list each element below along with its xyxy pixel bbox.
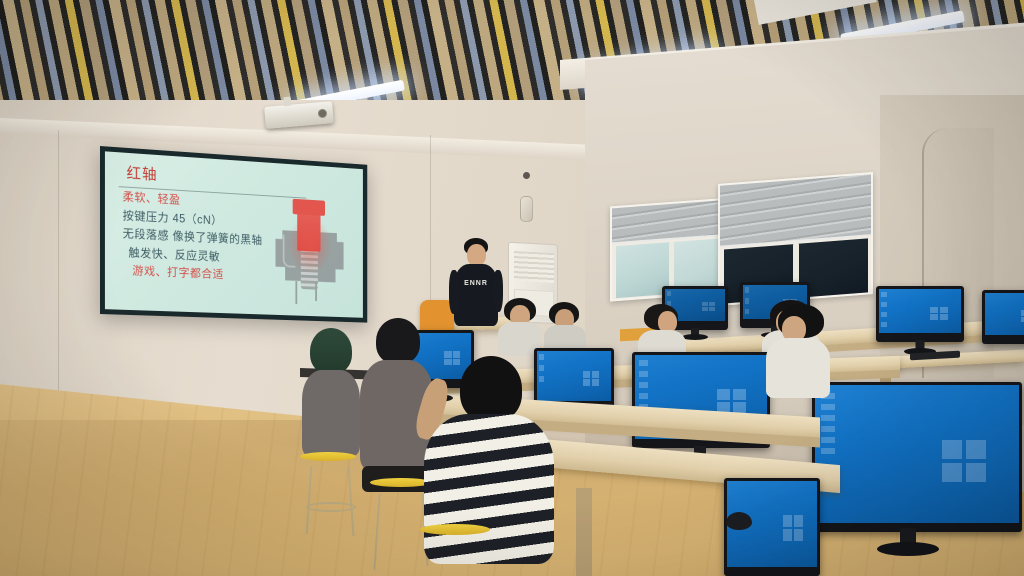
windows-logo-icon [930,307,948,320]
windows-logo-icon [702,302,715,312]
monitor-screen [985,293,1024,335]
projector-mount [283,97,291,107]
presentation-slide: 红轴 柔软、轻盈 按键压力 45（cN） 无段落感 像换了弹簧的黑轴 触发快、反… [105,151,363,317]
mouse[interactable] [726,512,752,530]
wall-sensor-icon [523,172,530,179]
teacher: ENNR [448,238,504,328]
stool[interactable] [420,524,490,550]
student-far-right [766,304,832,396]
monitor[interactable] [982,290,1024,344]
windows-logo-icon [783,515,803,541]
ac-grille-icon [514,251,554,283]
windows-logo-icon [583,371,599,386]
teacher-shirt-text: ENNR [464,280,488,287]
wall-panel-seam [58,130,59,430]
wall-speaker-icon [520,196,533,222]
monitor[interactable] [876,286,964,342]
windows-logo-icon [717,389,746,414]
monitor-screen [879,289,961,333]
student-mid-a [498,298,544,354]
desk-leg [576,488,592,576]
roller-blind[interactable] [612,200,731,245]
student-green-hair [300,328,362,456]
monitor[interactable] [812,382,1022,532]
roller-blind[interactable] [720,174,871,248]
keyboard-switch-icon [268,197,350,308]
windows-logo-icon [942,440,987,481]
projection-screen[interactable]: 红轴 柔软、轻盈 按键压力 45（cN） 无段落感 像换了弹簧的黑轴 触发快、反… [100,146,367,323]
slide-title: 红轴 [127,162,158,185]
classroom-photo: 红轴 柔软、轻盈 按键压力 45（cN） 无段落感 像换了弹簧的黑轴 触发快、反… [0,0,1024,576]
projector-lens-icon [318,109,328,119]
monitor-screen [815,385,1019,523]
